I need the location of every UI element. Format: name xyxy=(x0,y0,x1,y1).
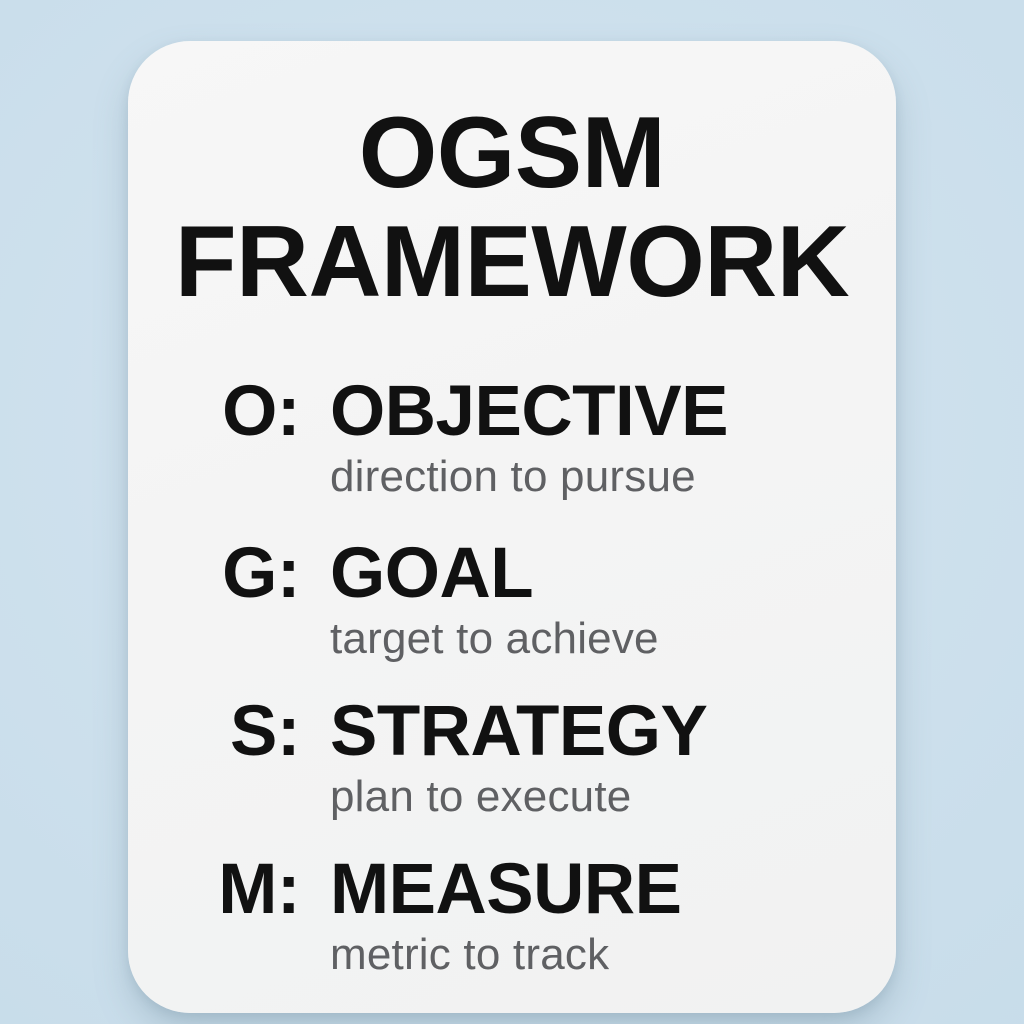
framework-entry-objective: O: OBJECTIVE direction to pursue xyxy=(128,376,896,538)
entry-key-goal: G: xyxy=(128,538,300,610)
entry-subtitle-strategy: plan to execute xyxy=(330,772,631,822)
entry-headline-strategy: S: STRATEGY xyxy=(128,696,896,768)
page-title: OGSM FRAMEWORK xyxy=(128,103,896,313)
entry-headline-measure: M: MEASURE xyxy=(128,854,896,926)
entry-term-strategy: STRATEGY xyxy=(330,696,707,768)
poster-canvas: OGSM FRAMEWORK O: OBJECTIVE direction to… xyxy=(0,0,1024,1024)
entry-term-measure: MEASURE xyxy=(330,854,682,926)
entry-subtitle-measure: metric to track xyxy=(330,930,609,980)
entry-headline-goal: G: GOAL xyxy=(128,538,896,610)
entry-headline-objective: O: OBJECTIVE xyxy=(128,376,896,448)
title-line-acronym: OGSM xyxy=(128,103,896,204)
entry-key-strategy: S: xyxy=(128,696,300,768)
framework-entry-goal: G: GOAL target to achieve xyxy=(128,538,896,696)
entry-term-goal: GOAL xyxy=(330,538,533,610)
framework-entry-list: O: OBJECTIVE direction to pursue G: GOAL… xyxy=(128,376,896,1013)
entry-term-objective: OBJECTIVE xyxy=(330,376,728,448)
framework-entry-strategy: S: STRATEGY plan to execute xyxy=(128,696,896,854)
entry-subtitle-objective: direction to pursue xyxy=(330,452,696,502)
framework-card: OGSM FRAMEWORK O: OBJECTIVE direction to… xyxy=(128,41,896,1013)
entry-key-objective: O: xyxy=(128,376,300,448)
entry-key-measure: M: xyxy=(128,854,300,926)
title-line-framework: FRAMEWORK xyxy=(128,212,896,313)
framework-entry-measure: M: MEASURE metric to track xyxy=(128,854,896,1013)
entry-subtitle-goal: target to achieve xyxy=(330,614,659,664)
